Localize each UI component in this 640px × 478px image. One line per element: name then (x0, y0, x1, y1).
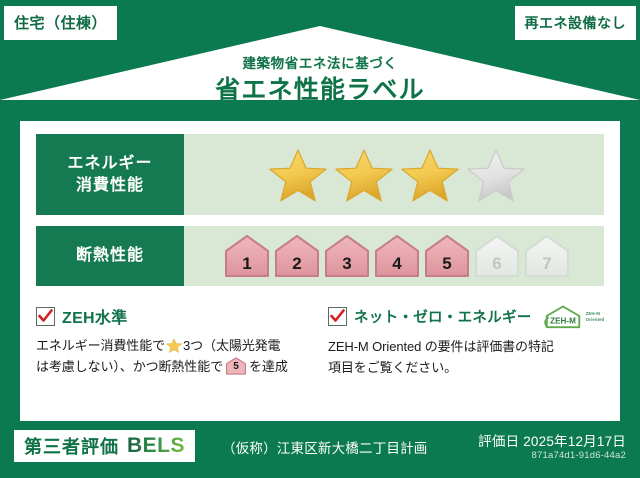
insulation-level-5-number: 5 (424, 254, 470, 274)
insulation-level-2: 2 (274, 234, 320, 278)
star-icon-filled-1 (269, 147, 327, 203)
zeh-title: ZEH水準 (62, 304, 128, 328)
zeh-checkbox[interactable] (36, 307, 55, 326)
zeh-text-part4: を達成 (249, 359, 288, 374)
nze-checkbox[interactable] (328, 307, 347, 326)
zeh-m-house-icon: ZEH-M (543, 304, 583, 329)
zeh-m-logo: ZEH-M ZEH-M Oriented (543, 304, 605, 329)
star-icon-filled-2 (335, 147, 393, 203)
energy-performance-label: エネルギー 消費性能 (36, 134, 184, 215)
note-net-zero-energy: ネット・ゼロ・エネルギー ZEH-M ZEH-M Oriented (328, 304, 606, 378)
evaluation-id: 871a74d1-91d6-44a2 (532, 450, 626, 461)
energy-stars-container (184, 134, 604, 215)
insulation-level-1: 1 (224, 234, 270, 278)
zeh-m-sub-line1: ZEH-M (586, 311, 600, 316)
insulation-levels-container: 1 2 3 4 (184, 226, 604, 286)
zeh-text-part2: 3つ（太陽光発電 (183, 338, 280, 353)
insulation-level-7: 7 (524, 234, 570, 278)
note-zeh-header: ZEH水準 (36, 304, 314, 328)
star-icon-filled-3 (401, 147, 459, 203)
note-zeh-standard: ZEH水準 エネルギー消費性能で3つ（太陽光発電は考慮しない）、かつ断熱性能で5… (36, 304, 314, 378)
label-title: 省エネ性能ラベル (0, 75, 640, 106)
insulation-level-6: 6 (474, 234, 520, 278)
energy-performance-label: 住宅（住棟） 再エネ設備なし 建築物省エネ法に基づく 省エネ性能ラベル エネルギ… (0, 0, 640, 478)
inline-house-icon-5: 5 (225, 357, 247, 375)
zeh-m-logo-subtext: ZEH-M Oriented (586, 311, 605, 322)
evaluation-date: 評価日 2025年12月17日 (478, 430, 626, 450)
renewable-energy-tag: 再エネ設備なし (515, 6, 637, 40)
label-body-card: エネルギー 消費性能 (20, 121, 620, 421)
bels-wordmark: BELS (127, 434, 185, 458)
inline-star-icon (166, 338, 182, 353)
bels-jp-text: 第三者評価 (24, 433, 119, 459)
insulation-level-scale: 1 2 3 4 (224, 234, 570, 278)
insulation-performance-label: 断熱性能 (36, 226, 184, 286)
insulation-level-6-number: 6 (474, 254, 520, 274)
zeh-text-part1: エネルギー消費性能で (36, 338, 165, 353)
project-name: （仮称）江東区新大橋二丁目計画 (222, 437, 428, 457)
footer-band: 第三者評価 BELS （仮称）江東区新大橋二丁目計画 評価日 2025年12月1… (0, 421, 640, 478)
nze-description: ZEH-M Oriented の要件は評価書の特記 項目をご覧ください。 (328, 336, 606, 378)
zeh-description: エネルギー消費性能で3つ（太陽光発電は考慮しない）、かつ断熱性能で5を達成 (36, 335, 314, 377)
zeh-m-logo-text: ZEH-M (550, 316, 576, 325)
insulation-level-5: 5 (424, 234, 470, 278)
star-rating (269, 147, 525, 203)
label-subtitle: 建築物省エネ法に基づく (0, 56, 640, 72)
insulation-performance-row: 断熱性能 1 2 (36, 226, 604, 286)
nze-title: ネット・ゼロ・エネルギー (354, 306, 532, 327)
zeh-m-sub-line2: Oriented (586, 317, 605, 322)
notes-section: ZEH水準 エネルギー消費性能で3つ（太陽光発電は考慮しない）、かつ断熱性能で5… (36, 304, 606, 378)
nze-text-line2: 項目をご覧ください。 (328, 360, 457, 375)
insulation-level-7-number: 7 (524, 254, 570, 274)
energy-label-line1: エネルギー (67, 153, 152, 175)
insulation-level-3: 3 (324, 234, 370, 278)
energy-label-line2: 消費性能 (67, 175, 152, 197)
insulation-level-1-number: 1 (224, 254, 270, 274)
building-type-tag: 住宅（住棟） (4, 6, 117, 40)
insulation-level-4: 4 (374, 234, 420, 278)
insulation-level-2-number: 2 (274, 254, 320, 274)
check-icon (330, 309, 345, 324)
title-block: 建築物省エネ法に基づく 省エネ性能ラベル (0, 56, 640, 106)
insulation-level-3-number: 3 (324, 254, 370, 274)
bels-badge: 第三者評価 BELS (14, 430, 195, 462)
nze-text-line1: ZEH-M Oriented の要件は評価書の特記 (328, 339, 554, 354)
inline-house-number: 5 (225, 359, 247, 375)
insulation-level-4-number: 4 (374, 254, 420, 274)
check-icon (38, 309, 53, 324)
note-nze-header: ネット・ゼロ・エネルギー ZEH-M ZEH-M Oriented (328, 304, 606, 329)
zeh-text-part3: は考慮しない）、かつ断熱性能で (36, 359, 223, 374)
star-icon-empty-4 (467, 147, 525, 203)
energy-performance-row: エネルギー 消費性能 (36, 134, 604, 215)
